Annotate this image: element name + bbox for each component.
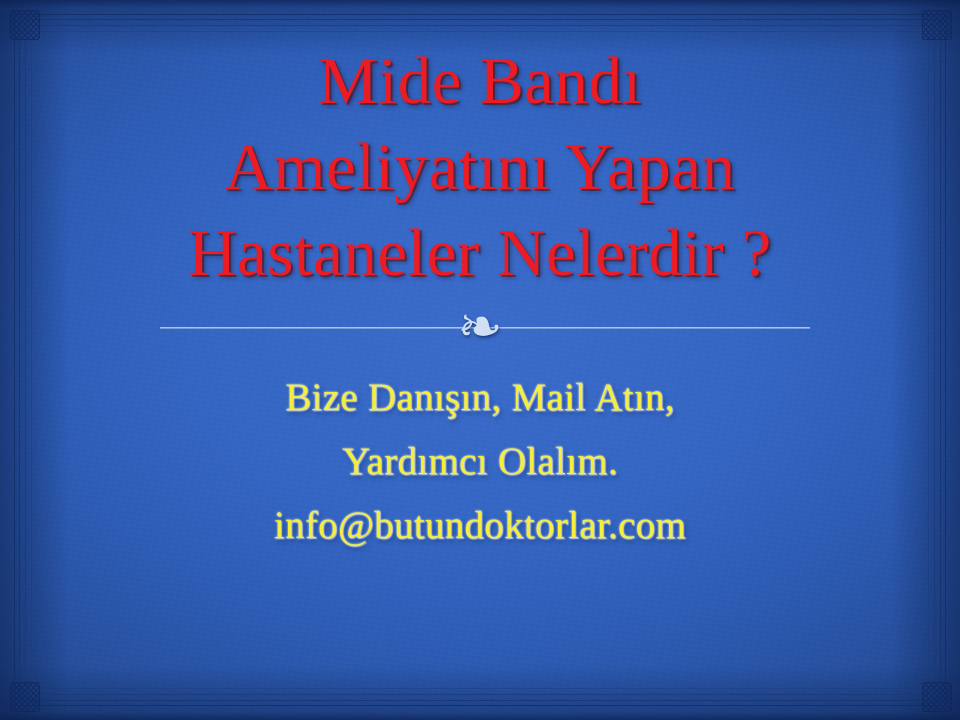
presentation-slide: Mide Bandı Ameliyatını Yapan Hastaneler … bbox=[0, 0, 960, 720]
cb-flourish-ornament-icon: ❧ bbox=[441, 302, 518, 352]
title-line-2: Ameliyatını Yapan bbox=[30, 124, 930, 210]
slide-content: Mide Bandı Ameliyatını Yapan Hastaneler … bbox=[0, 0, 960, 720]
title-line-1: Mide Bandı bbox=[30, 38, 930, 124]
subtitle-line-1: Bize Danışın, Mail Atın, bbox=[30, 366, 930, 430]
contact-email-text: info@butundoktorlar.com bbox=[30, 494, 930, 558]
title-divider: ❧ bbox=[30, 302, 930, 352]
title-line-3: Hastaneler Nelerdir ? bbox=[30, 210, 930, 296]
slide-subtitle: Bize Danışın, Mail Atın, Yardımcı Olalım… bbox=[30, 366, 930, 558]
subtitle-line-2: Yardımcı Olalım. bbox=[30, 430, 930, 494]
slide-title: Mide Bandı Ameliyatını Yapan Hastaneler … bbox=[30, 38, 930, 296]
